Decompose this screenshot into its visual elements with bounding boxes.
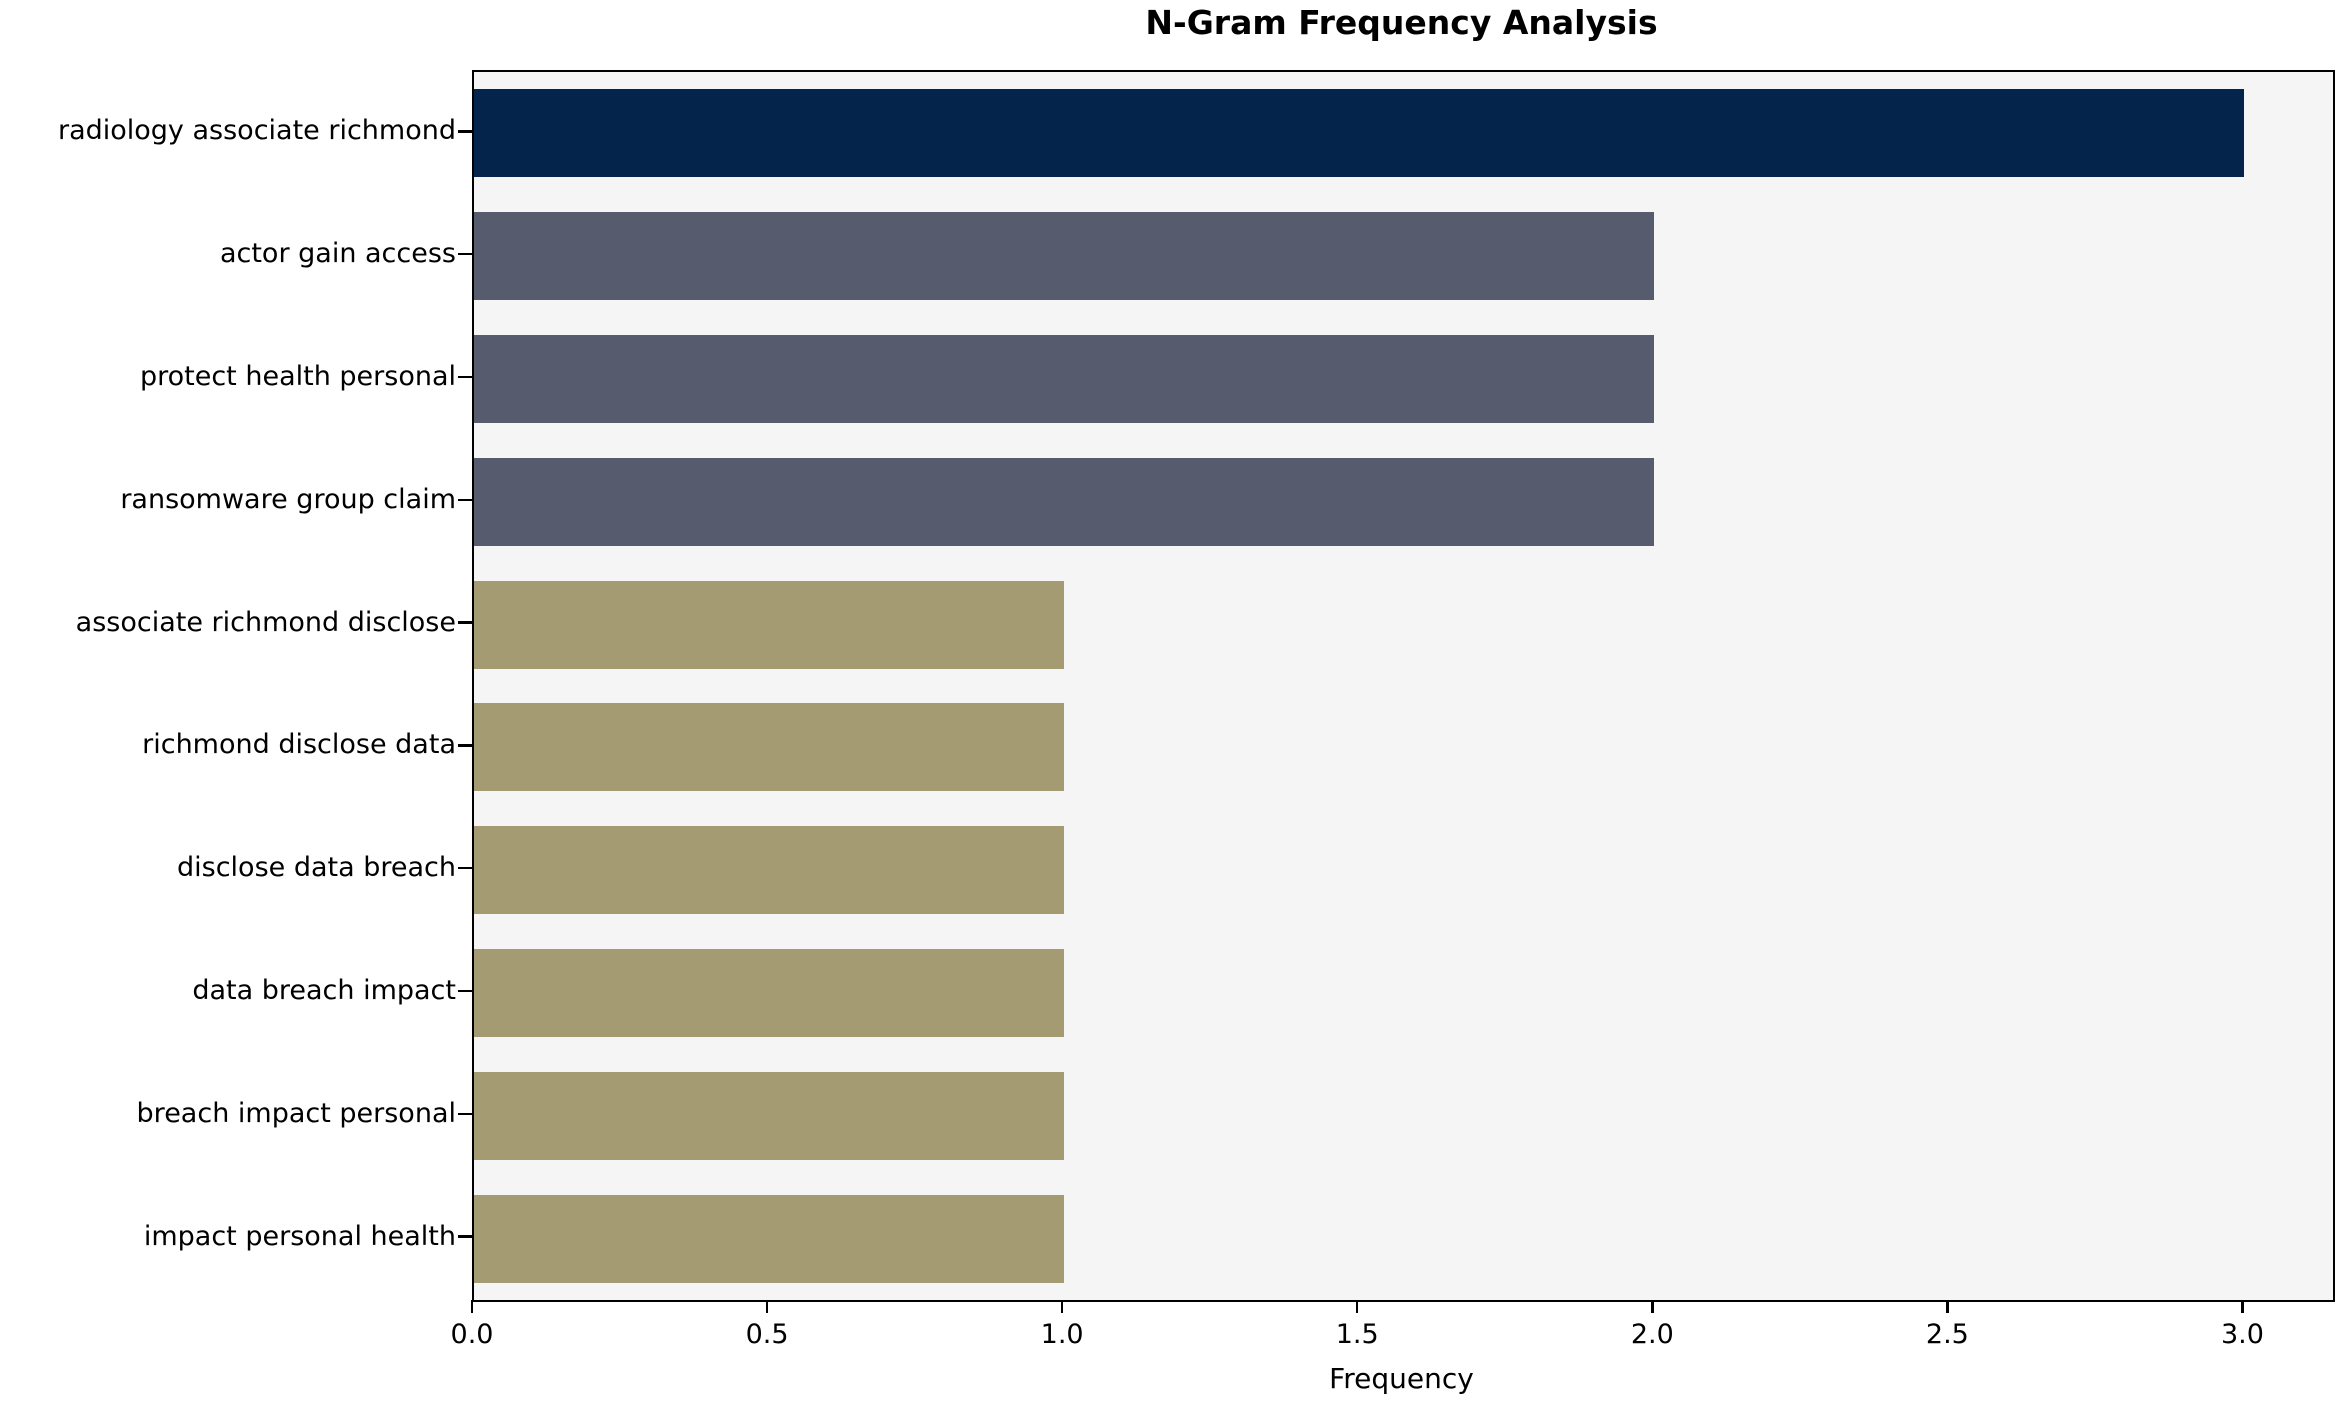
y-axis-tick-mark [458,130,472,132]
y-axis-tick-label: breach impact personal [0,1098,456,1130]
x-axis-tick-label: 0.0 [412,1318,532,1352]
bar[interactable] [474,1195,1064,1283]
y-axis-tick-label: data breach impact [0,975,456,1007]
bar-row [474,335,2333,423]
y-axis-tick-label: disclose data breach [0,852,456,884]
y-axis-tick-mark [458,621,472,623]
x-axis-tick-label: 1.0 [1002,1318,1122,1352]
chart-figure: N-Gram Frequency Analysis radiology asso… [0,0,2351,1414]
bar-row [474,949,2333,1037]
x-axis-tick-mark [471,1300,473,1313]
y-axis-tick-label: protect health personal [0,361,456,393]
y-axis-tick-label: ransomware group claim [0,484,456,516]
x-axis-tick-mark [1946,1300,1948,1313]
y-axis-tick-label: associate richmond disclose [0,607,456,639]
y-axis-tick-mark [458,499,472,501]
x-axis-tick-mark [1061,1300,1063,1313]
bar-row [474,826,2333,914]
bar[interactable] [474,949,1064,1037]
y-axis-tick-label: actor gain access [0,238,456,270]
y-axis-tick-mark [458,1113,472,1115]
y-axis-tick-mark [458,744,472,746]
bar-row [474,89,2333,177]
bar[interactable] [474,703,1064,791]
bar[interactable] [474,826,1064,914]
x-axis-tick-label: 3.0 [2182,1318,2302,1352]
bars-container [474,72,2333,1300]
y-axis-tick-mark [458,253,472,255]
bar-row [474,1072,2333,1160]
x-axis-label: Frequency [472,1362,2331,1396]
bar[interactable] [474,212,1654,300]
bar[interactable] [474,335,1654,423]
y-axis-tick-label: impact personal health [0,1221,456,1253]
x-axis-tick-mark [1356,1300,1358,1313]
bar[interactable] [474,1072,1064,1160]
bar[interactable] [474,581,1064,669]
plot-area [472,70,2335,1302]
y-axis-tick-mark [458,990,472,992]
bar-row [474,703,2333,791]
bar[interactable] [474,89,2244,177]
y-axis-tick-label: richmond disclose data [0,729,456,761]
bar-row [474,581,2333,669]
bar-row [474,1195,2333,1283]
x-axis-tick-label: 1.5 [1297,1318,1417,1352]
x-axis-tick-mark [2241,1300,2243,1313]
x-axis-tick-label: 2.5 [1887,1318,2007,1352]
bar[interactable] [474,458,1654,546]
x-axis-tick-mark [766,1300,768,1313]
x-axis-tick-mark [1651,1300,1653,1313]
y-axis-tick-mark [458,1235,472,1237]
x-axis-tick-label: 0.5 [707,1318,827,1352]
chart-title: N-Gram Frequency Analysis [472,2,2331,44]
y-axis-tick-mark [458,376,472,378]
x-axis-tick-label: 2.0 [1592,1318,1712,1352]
bar-row [474,458,2333,546]
bar-row [474,212,2333,300]
y-axis-tick-label: radiology associate richmond [0,115,456,147]
y-axis-tick-mark [458,867,472,869]
